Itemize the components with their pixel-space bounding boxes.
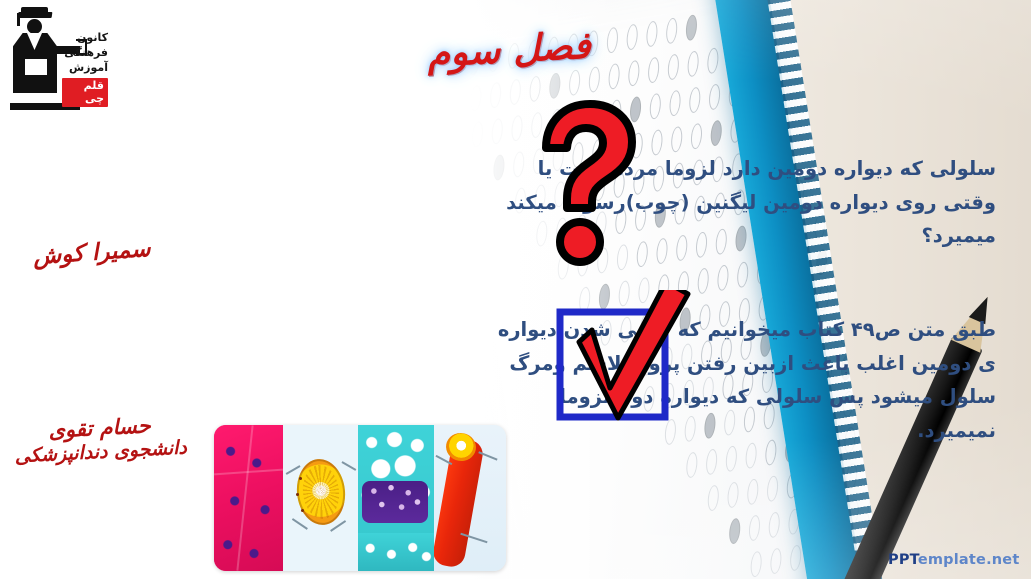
watermark: PPTemplate.net	[888, 552, 1019, 568]
organization-logo: کانون فرهنگی آموزش قلم چی	[8, 6, 108, 110]
logo-badge-ghalamchi: قلم چی	[62, 78, 108, 107]
needle-5	[342, 461, 357, 470]
slide-root: کانون فرهنگی آموزش قلم چی فصل سوم سلولی …	[0, 0, 1031, 579]
xylem-mesh-bottom	[358, 533, 434, 571]
cell-image-fiber-cell-red	[434, 425, 506, 571]
cell-image-radial-cell-yellow	[283, 425, 358, 571]
cell-image-tissue-magenta	[214, 425, 283, 571]
graduate-figure-icon	[10, 6, 62, 110]
watermark-bold: PPT	[888, 552, 918, 568]
answer-author-signature: حسام تقوی دانشجوی دندانپزشکی	[13, 412, 188, 469]
purple-cell-patch	[362, 481, 428, 523]
cell-dot-2	[296, 493, 299, 496]
radial-cell-body	[294, 457, 349, 528]
logo-line-3: آموزش	[62, 60, 108, 75]
cell-dot-3	[301, 509, 304, 512]
cell-image-xylem-network-teal	[358, 425, 434, 571]
chapter-title: فصل سوم	[426, 24, 592, 76]
question-mark-icon	[518, 92, 638, 272]
needle-6	[292, 518, 308, 529]
logo-wordmark: کانون فرهنگی آموزش قلم چی	[62, 30, 108, 107]
logo-line-2: فرهنگی	[62, 45, 108, 60]
mortarboard-brim	[18, 12, 53, 18]
watermark-light: emplate.net	[918, 552, 1020, 568]
book-icon	[24, 58, 48, 76]
checkmark-icon	[548, 290, 693, 430]
mortarboard-tassel	[17, 13, 20, 26]
figure-head	[27, 19, 42, 34]
background-photo	[0, 0, 1031, 579]
logo-line-1: کانون	[62, 30, 108, 45]
cell-dot-1	[299, 477, 302, 480]
needle-4	[286, 465, 301, 474]
microscopy-collage	[214, 425, 506, 571]
